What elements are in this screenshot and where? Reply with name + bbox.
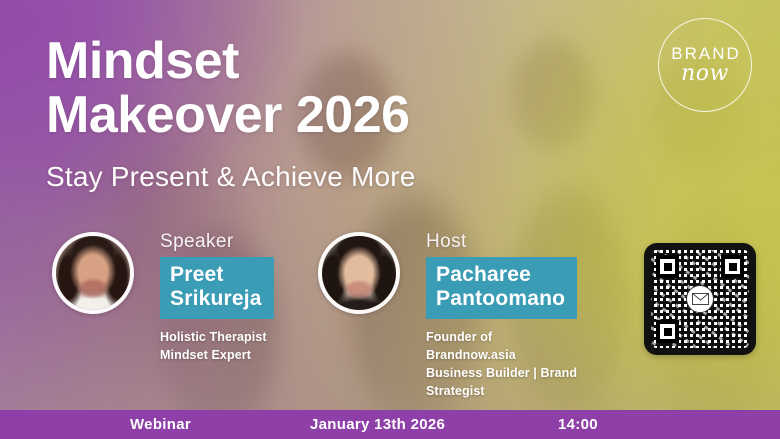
speaker-name: Preet Srikureja (160, 257, 274, 319)
logo-script-text: now (681, 63, 729, 85)
footer-event-type: Webinar (130, 416, 191, 433)
headline-line-2: Makeover 2026 (46, 89, 410, 143)
qr-code-matrix (651, 250, 749, 348)
avatar-host (318, 232, 400, 314)
speaker-role-label: Speaker (160, 232, 274, 251)
speaker-credentials: Holistic Therapist Mindset Expert (160, 328, 274, 364)
avatar-speaker-photo (56, 236, 130, 310)
footer-date: January 13th 2026 (310, 416, 445, 433)
qr-finder-top-left (656, 255, 679, 278)
host-name: Pacharee Pantoomano (426, 257, 577, 319)
avatar-speaker (52, 232, 134, 314)
host-role-label: Host (426, 232, 577, 251)
envelope-icon (686, 285, 714, 313)
page-title: Mindset Makeover 2026 (46, 35, 410, 142)
brand-logo: BRAND now (658, 18, 752, 112)
host-text: Host Pacharee Pantoomano Founder of Bran… (426, 232, 577, 400)
subtitle: Stay Present & Achieve More (46, 161, 416, 193)
qr-finder-bottom-left (656, 320, 679, 343)
footer-time: 14:00 (558, 416, 598, 433)
qr-code[interactable] (644, 243, 756, 355)
qr-finder-top-right (721, 255, 744, 278)
avatar-host-photo (322, 236, 396, 310)
speaker-text: Speaker Preet Srikureja Holistic Therapi… (160, 232, 274, 364)
headline-line-1: Mindset (46, 32, 239, 90)
logo-brand-text: BRAND (669, 45, 741, 62)
banner-content: Mindset Makeover 2026 Stay Present & Ach… (0, 0, 780, 439)
webinar-promo-banner: Mindset Makeover 2026 Stay Present & Ach… (0, 0, 780, 439)
footer-bar: Webinar January 13th 2026 14:00 (0, 410, 780, 439)
host-credentials: Founder of Brandnow.asia Business Builde… (426, 328, 577, 401)
